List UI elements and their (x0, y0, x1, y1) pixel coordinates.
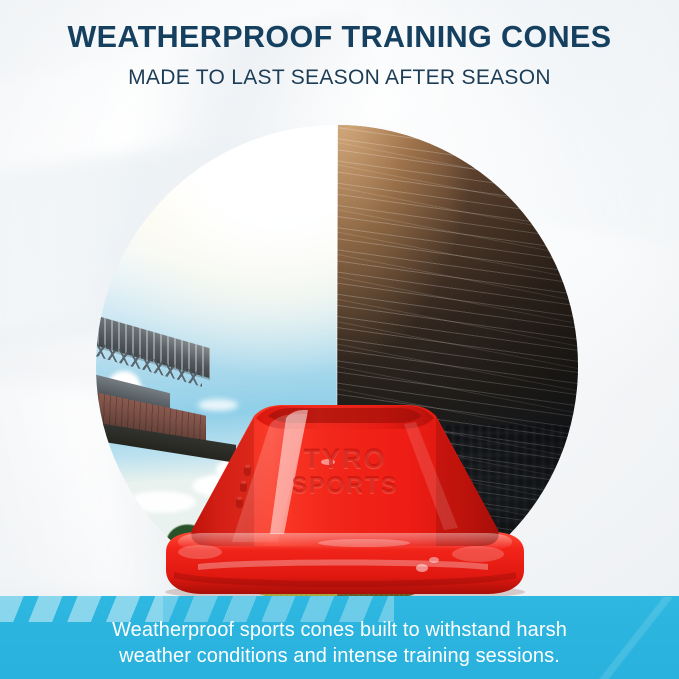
page-subtitle: MADE TO LAST SEASON AFTER SEASON (0, 67, 679, 88)
banner-caption-line2: weather conditions and intense training … (0, 643, 679, 669)
page-title: WEATHERPROOF TRAINING CONES (0, 22, 679, 53)
product-infographic: WEATHERPROOF TRAINING CONES MADE TO LAST… (0, 0, 679, 679)
bottom-banner: Weatherproof sports cones built to withs… (0, 596, 679, 679)
banner-caption: Weatherproof sports cones built to withs… (0, 617, 679, 669)
banner-caption-line1: Weatherproof sports cones built to withs… (0, 617, 679, 643)
red-training-cone: TYRO SPORTS (158, 402, 532, 597)
header-block: WEATHERPROOF TRAINING CONES MADE TO LAST… (0, 22, 679, 88)
sun-icon (96, 125, 337, 414)
